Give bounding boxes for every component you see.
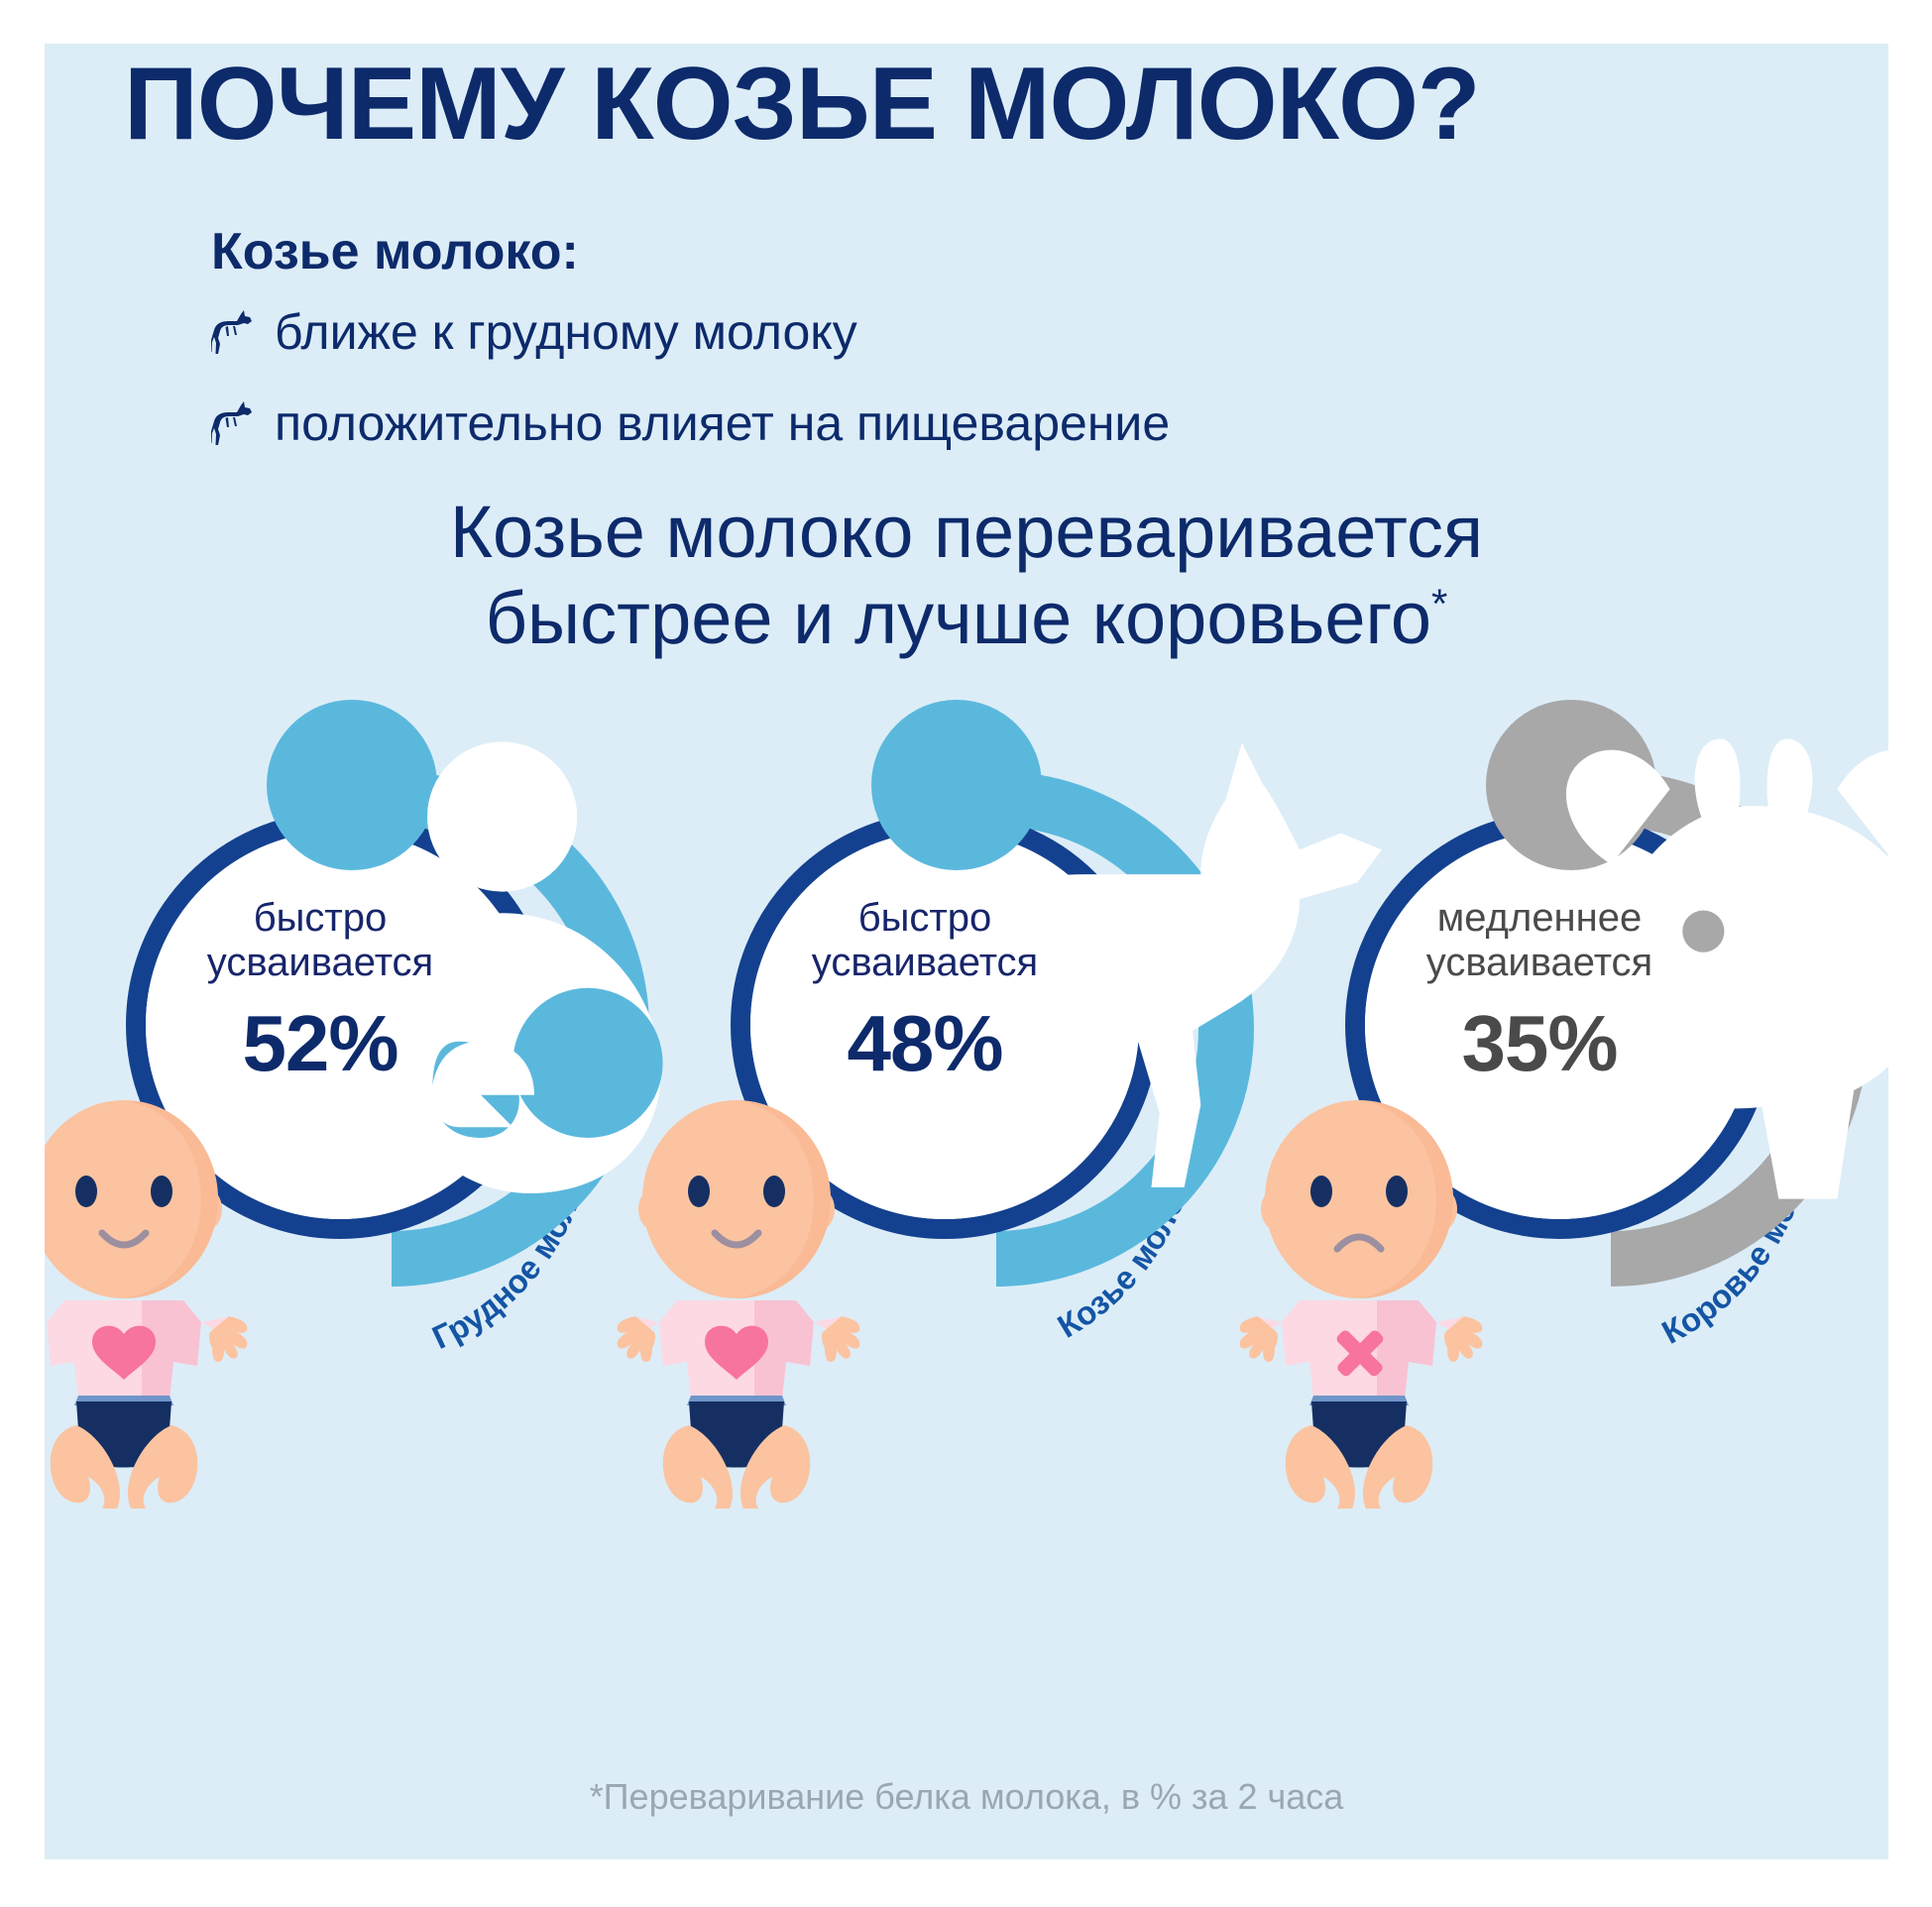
badge-breastfeeding <box>267 700 437 870</box>
circles-row: Грудное молоко <box>45 698 1888 1689</box>
stat-circle-goat-milk: Козье молоко <box>659 698 1254 1689</box>
baby-sad <box>1238 1092 1565 1509</box>
bullet-item-1: положительно влияет на пищеварение <box>211 394 1170 452</box>
headline: Козье молоко переваривается быстрее и лу… <box>45 490 1888 661</box>
stat-circle-breast-milk: Грудное молоко <box>55 698 649 1689</box>
subheading: Козье молоко: <box>211 222 579 281</box>
bullet-item-0: ближе к грудному молоку <box>211 303 857 361</box>
bullet-label: положительно влияет на пищеварение <box>275 394 1170 452</box>
footnote: *Переваривание белка молока, в % за 2 ча… <box>45 1776 1888 1818</box>
badge-goat <box>871 700 1042 870</box>
baby-happy <box>616 1092 943 1509</box>
goat-icon <box>211 401 253 445</box>
goat-icon <box>211 310 253 354</box>
badge-cow <box>1486 700 1656 870</box>
headline-line-2-text: быстрее и лучше коровьего <box>486 577 1431 659</box>
baby-happy <box>45 1092 330 1509</box>
headline-line-2: быстрее и лучше коровьего* <box>45 576 1888 662</box>
stat-circle-cow-milk: Коровье молоко <box>1274 698 1869 1689</box>
infographic-root: ПОЧЕМУ КОЗЬЕ МОЛОКО? Козье молоко: ближе… <box>0 0 1932 1907</box>
bullet-label: ближе к грудному молоку <box>275 303 857 361</box>
headline-asterisk: * <box>1431 580 1447 626</box>
infographic-panel: ПОЧЕМУ КОЗЬЕ МОЛОКО? Козье молоко: ближе… <box>45 44 1888 1859</box>
page-title: ПОЧЕМУ КОЗЬЕ МОЛОКО? <box>124 50 1829 159</box>
headline-line-1: Козье молоко переваривается <box>45 490 1888 576</box>
